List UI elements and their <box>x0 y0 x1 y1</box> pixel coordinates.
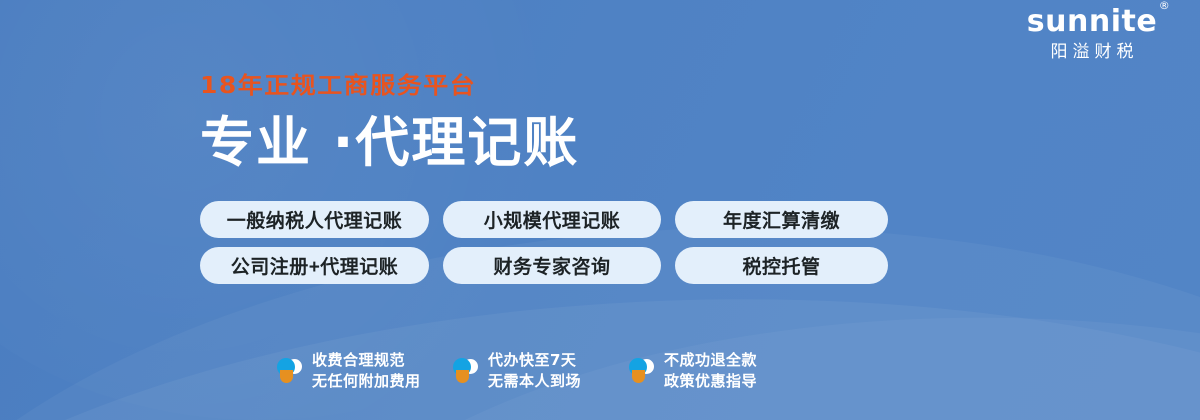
icon-orange-base <box>632 370 645 383</box>
feature-line-1: 不成功退全款 <box>664 350 757 371</box>
feature-line-2: 无需本人到场 <box>488 371 581 392</box>
feature-highlight-list: 收费合理规范 无任何附加费用 代办快至7天 无需本人到场 不成功退全款 <box>276 350 804 392</box>
feature-text-guarantee: 不成功退全款 政策优惠指导 <box>664 350 757 392</box>
feature-line-2: 无任何附加费用 <box>312 371 421 392</box>
service-pill-small-scale[interactable]: 小规模代理记账 <box>443 201 661 238</box>
brand-chinese-name: 阳溢财税 <box>1002 40 1182 64</box>
brand-wordmark-text: sunnite <box>1027 4 1157 39</box>
feature-item-guarantee: 不成功退全款 政策优惠指导 <box>628 350 804 392</box>
background-wave-2 <box>0 274 1200 420</box>
service-pill-row-1: 一般纳税人代理记账 小规模代理记账 年度汇算清缴 <box>200 201 888 238</box>
hero-text-block: 18年正规工商服务平台 专业 ·代理记账 <box>200 70 579 178</box>
service-pill-row-2: 公司注册+代理记账 财务专家咨询 税控托管 <box>200 247 888 284</box>
brand-wordmark: sunnite ® <box>1027 4 1157 40</box>
dual-circle-icon <box>276 356 302 386</box>
service-pill-financial-consulting[interactable]: 财务专家咨询 <box>443 247 661 284</box>
service-pill-company-registration[interactable]: 公司注册+代理记账 <box>200 247 429 284</box>
service-pill-annual-settlement[interactable]: 年度汇算清缴 <box>675 201 888 238</box>
dual-circle-icon <box>452 356 478 386</box>
feature-item-speed: 代办快至7天 无需本人到场 <box>452 350 628 392</box>
promo-banner: sunnite ® 阳溢财税 18年正规工商服务平台 专业 ·代理记账 一般纳税… <box>0 0 1200 420</box>
hero-headline: 专业 ·代理记账 <box>200 108 579 178</box>
feature-line-1: 收费合理规范 <box>312 350 421 371</box>
feature-line-1: 代办快至7天 <box>488 350 581 371</box>
service-pill-general-taxpayer[interactable]: 一般纳税人代理记账 <box>200 201 429 238</box>
service-pill-tax-control-hosting[interactable]: 税控托管 <box>675 247 888 284</box>
feature-text-speed: 代办快至7天 无需本人到场 <box>488 350 581 392</box>
feature-item-pricing: 收费合理规范 无任何附加费用 <box>276 350 452 392</box>
dual-circle-icon <box>628 356 654 386</box>
service-pill-grid: 一般纳税人代理记账 小规模代理记账 年度汇算清缴 公司注册+代理记账 财务专家咨… <box>200 201 888 284</box>
feature-line-2: 政策优惠指导 <box>664 371 757 392</box>
hero-eyebrow: 18年正规工商服务平台 <box>200 70 579 101</box>
icon-orange-base <box>456 370 469 383</box>
brand-logo[interactable]: sunnite ® 阳溢财税 <box>1002 4 1182 64</box>
feature-text-pricing: 收费合理规范 无任何附加费用 <box>312 350 421 392</box>
icon-orange-base <box>280 370 293 383</box>
registered-trademark-icon: ® <box>1159 0 1171 11</box>
